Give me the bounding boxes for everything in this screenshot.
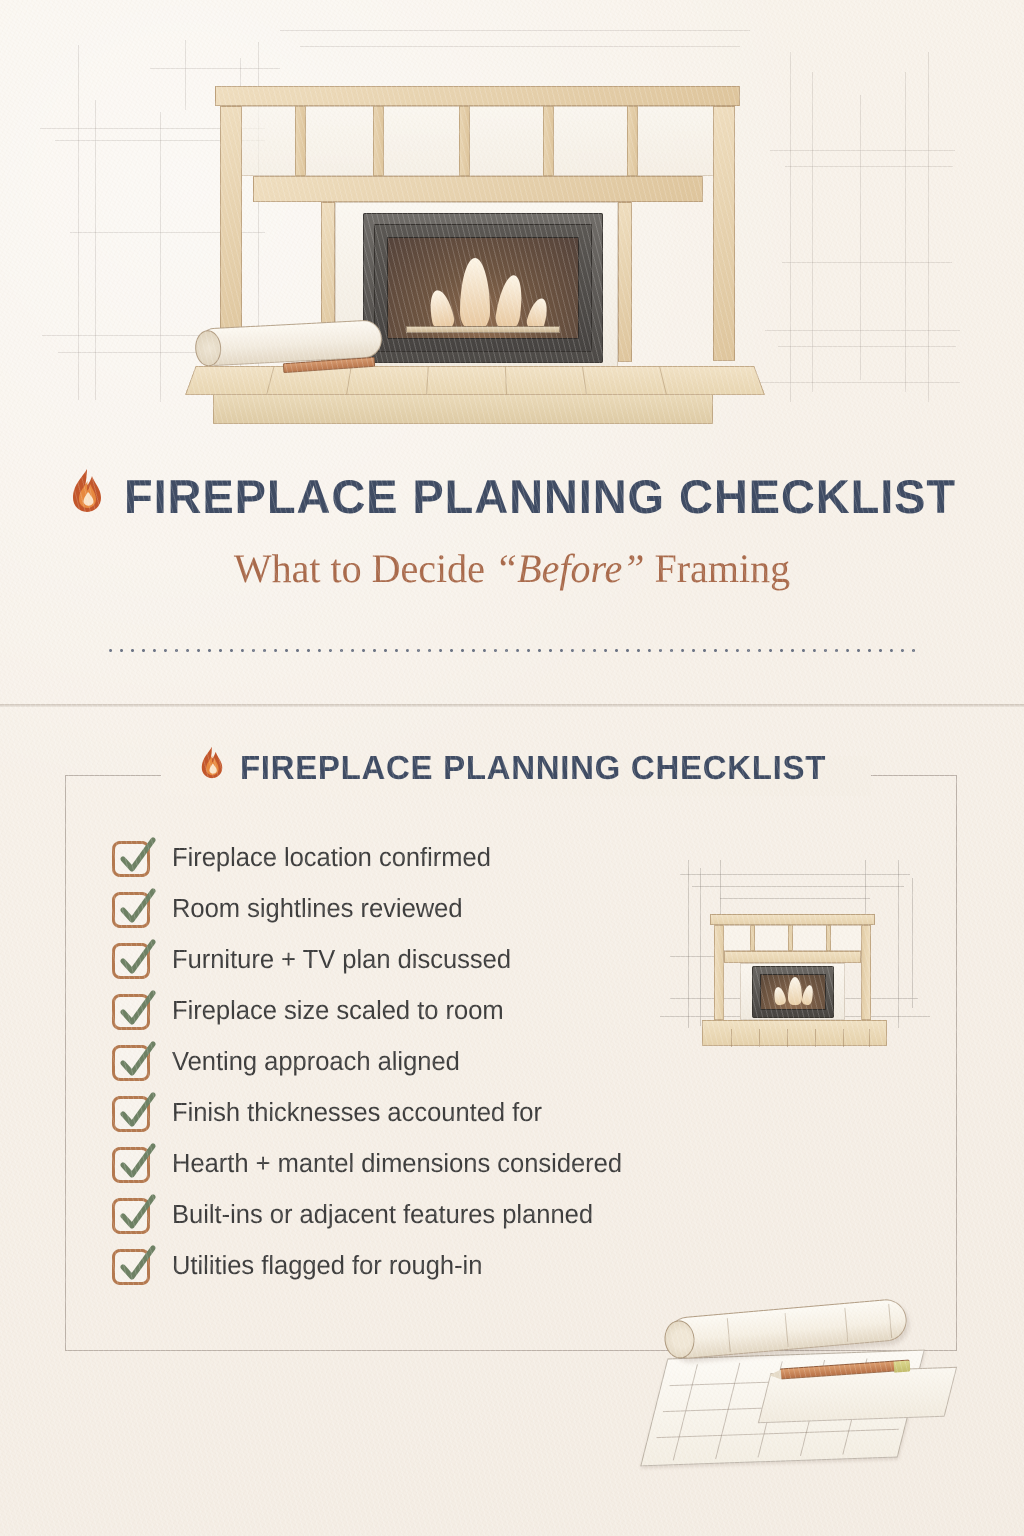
- mullion: [459, 106, 470, 176]
- blueprint-roll-end: [194, 330, 222, 367]
- mini-firebox-glass: [760, 974, 826, 1010]
- checklist-item-label: Hearth + mantel dimensions considered: [172, 1150, 622, 1179]
- mantel-leg-right: [713, 106, 735, 361]
- flame-icon: [198, 746, 226, 789]
- checklist-title: FIREPLACE PLANNING CHECKLIST: [240, 749, 826, 787]
- checklist-item[interactable]: Utilities flagged for rough-in: [112, 1241, 732, 1292]
- mullion: [373, 106, 384, 176]
- firebox: [363, 213, 603, 363]
- checklist-item[interactable]: Fireplace size scaled to room: [112, 986, 732, 1037]
- mullion: [295, 106, 306, 176]
- subtitle-quoted: “Before”: [495, 546, 645, 591]
- checklist-item[interactable]: Hearth + mantel dimensions considered: [112, 1139, 732, 1190]
- checklist-item-label: Utilities flagged for rough-in: [172, 1252, 482, 1281]
- flame-icon: [68, 468, 106, 525]
- section-divider: [0, 704, 1024, 707]
- checklist-header: FIREPLACE PLANNING CHECKLIST: [0, 746, 1024, 789]
- hearth-base: [213, 392, 713, 424]
- mantel-leg-left: [220, 106, 242, 361]
- checkbox-checked-icon[interactable]: [112, 892, 150, 928]
- checkbox-checked-icon[interactable]: [112, 1096, 150, 1132]
- checklist-item-label: Fireplace location confirmed: [172, 844, 491, 873]
- subtitle-suffix: Framing: [645, 546, 791, 591]
- mini-leg-right: [861, 925, 871, 1020]
- mantel-shelf: [215, 86, 740, 106]
- checklist-item[interactable]: Venting approach aligned: [112, 1037, 732, 1088]
- checklist-item-label: Venting approach aligned: [172, 1048, 460, 1077]
- checklist-item-label: Furniture + TV plan discussed: [172, 946, 511, 975]
- checklist-items: Fireplace location confirmed Room sightl…: [112, 833, 732, 1292]
- mantel-leg-right-inner: [618, 202, 632, 362]
- hearth-top: [185, 366, 765, 395]
- mini-mantel-shelf: [710, 914, 875, 925]
- checklist-item-label: Finish thicknesses accounted for: [172, 1099, 542, 1128]
- checkbox-checked-icon[interactable]: [112, 994, 150, 1030]
- pencil-tip: [769, 1369, 782, 1380]
- infographic-poster: FIREPLACE PLANNING CHECKLIST What to Dec…: [0, 0, 1024, 1536]
- checklist-item[interactable]: Room sightlines reviewed: [112, 884, 732, 935]
- hero-fireplace-illustration: [175, 78, 775, 423]
- firebox-glass: [387, 237, 579, 339]
- mullion: [543, 106, 554, 176]
- checkbox-checked-icon[interactable]: [112, 1249, 150, 1285]
- checklist-item[interactable]: Built-ins or adjacent features planned: [112, 1190, 732, 1241]
- checkbox-checked-icon[interactable]: [112, 1198, 150, 1234]
- checklist-item[interactable]: Furniture + TV plan discussed: [112, 935, 732, 986]
- log-grate: [406, 326, 560, 333]
- checkbox-checked-icon[interactable]: [112, 943, 150, 979]
- subtitle-prefix: What to Decide: [234, 546, 495, 591]
- checkbox-checked-icon[interactable]: [112, 841, 150, 877]
- mantel-beam: [253, 176, 703, 202]
- checklist-item-label: Room sightlines reviewed: [172, 895, 463, 924]
- page-title: FIREPLACE PLANNING CHECKLIST: [124, 469, 956, 524]
- checkbox-checked-icon[interactable]: [112, 1147, 150, 1183]
- pencil-eraser: [894, 1360, 911, 1372]
- blueprint-roll-end: [663, 1319, 696, 1359]
- checklist-item-label: Fireplace size scaled to room: [172, 997, 504, 1026]
- mini-firebox: [752, 966, 834, 1018]
- checkbox-checked-icon[interactable]: [112, 1045, 150, 1081]
- mini-mantel-beam: [724, 951, 861, 963]
- checklist-item[interactable]: Finish thicknesses accounted for: [112, 1088, 732, 1139]
- page-subtitle: What to Decide “Before” Framing: [0, 545, 1024, 592]
- headline-block: FIREPLACE PLANNING CHECKLIST What to Dec…: [0, 468, 1024, 592]
- hero-panel: FIREPLACE PLANNING CHECKLIST What to Dec…: [0, 0, 1024, 706]
- checklist-item-label: Built-ins or adjacent features planned: [172, 1201, 593, 1230]
- checklist-item[interactable]: Fireplace location confirmed: [112, 833, 732, 884]
- rolled-blueprint-and-pencil: [645, 1292, 965, 1482]
- mullion: [627, 106, 638, 176]
- firebox-inner-frame: [374, 224, 592, 352]
- dotted-divider: [105, 648, 920, 653]
